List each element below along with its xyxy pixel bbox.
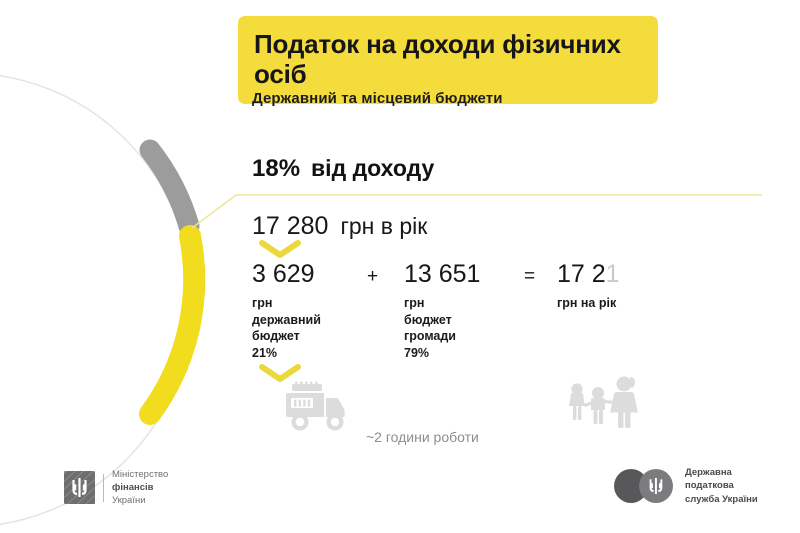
family-icon	[562, 372, 648, 434]
breakdown-column-community: 13 651 грн бюджет громади 79%	[404, 262, 480, 362]
infographic-canvas: Податок на доходи фізичних осіб Державни…	[0, 0, 800, 533]
sum-caption: грн на рік	[557, 295, 620, 312]
page-subtitle: Державний та місцевий бюджети	[252, 90, 503, 107]
tax-line2: податкова	[685, 479, 758, 492]
community-budget-amount: 13 651	[404, 262, 480, 287]
arc-state-budget	[150, 150, 189, 226]
community-budget-line1: бюджет	[404, 312, 480, 329]
ring-outline	[0, 73, 192, 527]
state-budget-share: 21%	[252, 345, 321, 362]
tax-line3: служба України	[685, 493, 758, 506]
ministry-wordmark: Міністерство фінансів України	[112, 468, 168, 507]
state-budget-caption: грн державний бюджет 21%	[252, 295, 321, 362]
community-budget-unit: грн	[404, 295, 480, 312]
page-title: Податок на доходи фізичних осіб	[254, 29, 642, 89]
breakdown-column-state: 3 629 грн державний бюджет 21%	[252, 262, 321, 362]
state-budget-unit: грн	[252, 295, 321, 312]
arc-community-budget	[150, 236, 194, 414]
annual-total-unit: грн в рік	[340, 213, 427, 240]
tax-rate-label: від доходу	[311, 155, 434, 182]
community-budget-share: 79%	[404, 345, 480, 362]
sum-amount: 17 21	[557, 262, 620, 287]
state-budget-line1: державний	[252, 312, 321, 329]
annual-total-amount: 17 280	[252, 212, 328, 241]
operator-plus: +	[367, 266, 378, 288]
chevron-down-icon	[258, 238, 302, 260]
tax-rate-row: 18% від доходу	[252, 155, 434, 183]
breakdown-column-sum: 17 21 грн на рік	[557, 262, 620, 312]
tax-service-wordmark: Державна податкова служба України	[685, 466, 758, 506]
ministry-line1: Міністерство	[112, 468, 168, 481]
work-equivalence-note: ~2 години роботи	[366, 429, 479, 445]
ministry-line2: фінансів	[112, 481, 168, 494]
budget-breakdown: 3 629 грн державний бюджет 21% + 13 651 …	[252, 262, 672, 372]
tax-line1: Державна	[685, 466, 758, 479]
fire-truck-icon	[283, 381, 353, 433]
ministry-line3: України	[112, 494, 168, 507]
logo-tax-service: Державна податкова служба України	[614, 466, 758, 506]
sum-unit: грн на рік	[557, 295, 620, 312]
sum-amount-clipped: 1	[606, 260, 620, 288]
trident-circle-icon	[614, 468, 676, 504]
community-budget-line2: громади	[404, 328, 480, 345]
operator-equals: =	[524, 266, 535, 288]
annual-total-row: 17 280 грн в рік	[252, 212, 427, 241]
logo-divider	[103, 474, 104, 502]
tax-rate-percent: 18%	[252, 155, 300, 183]
sum-amount-visible: 17 2	[557, 260, 606, 288]
community-budget-caption: грн бюджет громади 79%	[404, 295, 480, 362]
state-budget-line2: бюджет	[252, 328, 321, 345]
logo-ministry-of-finance: Міністерство фінансів України	[64, 468, 168, 507]
state-budget-amount: 3 629	[252, 262, 321, 287]
trident-emblem-icon	[64, 471, 95, 504]
